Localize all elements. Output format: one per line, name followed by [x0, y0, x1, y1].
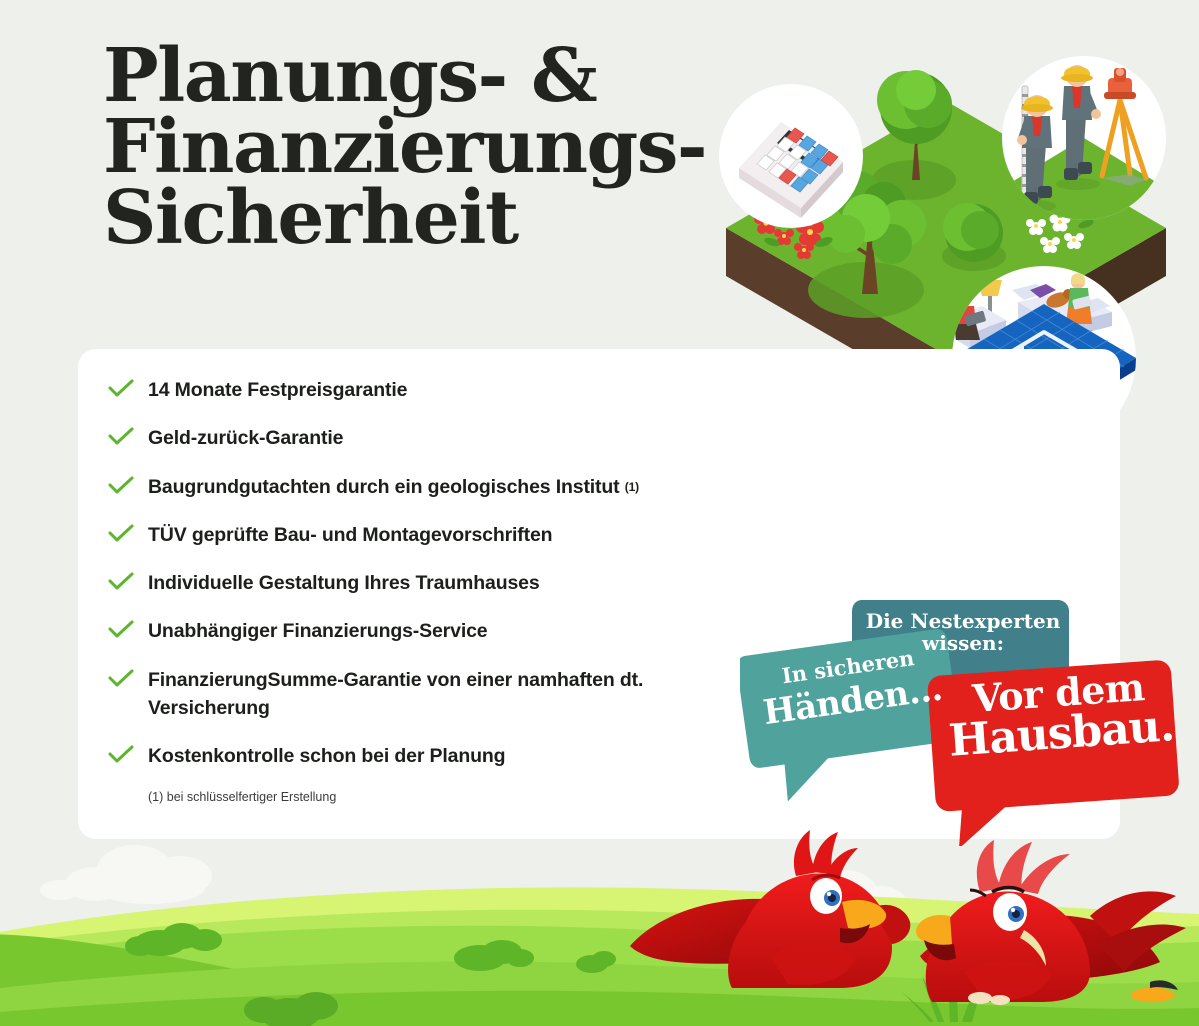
check-icon	[108, 521, 148, 544]
check-icon	[108, 376, 148, 399]
list-item: Baugrundgutachten durch ein geologisches…	[108, 473, 1088, 501]
check-icon	[108, 569, 148, 592]
check-icon	[108, 742, 148, 765]
list-item-text: Baugrundgutachten durch ein geologisches…	[148, 476, 620, 498]
list-item: 14 Monate Festpreisgarantie	[108, 376, 1088, 404]
list-item-label: TÜV geprüfte Bau- und Montagevorschrifte…	[148, 521, 552, 549]
list-item-label: FinanzierungSumme-Garantie von einer nam…	[148, 666, 708, 723]
bird-right	[916, 840, 1186, 1005]
list-item: FinanzierungSumme-Garantie von einer nam…	[108, 666, 748, 723]
list-item-label: Individuelle Gestaltung Ihres Traumhause…	[148, 569, 540, 597]
list-item-label: 14 Monate Festpreisgarantie	[148, 376, 407, 404]
check-icon	[108, 424, 148, 447]
bird-left-crest	[794, 830, 858, 878]
list-item: Geld-zurück-Garantie	[108, 424, 1088, 452]
two-red-birds	[620, 796, 1199, 1026]
bird-right-beak	[916, 915, 952, 945]
list-item-label: Unabhängiger Finanzierungs-Service	[148, 617, 487, 645]
list-item: Individuelle Gestaltung Ihres Traumhause…	[108, 569, 1088, 597]
footnote-marker: (1)	[625, 480, 639, 494]
poster-stage: Planungs- & Finanzierungs- Sicherheit	[0, 0, 1199, 1026]
surveyors-circle	[1002, 56, 1166, 220]
bird-right-crest	[977, 840, 1070, 894]
cloud-left	[40, 845, 212, 904]
check-icon	[108, 617, 148, 640]
bird-right-talon	[1132, 980, 1178, 1002]
check-icon	[108, 473, 148, 496]
list-item-label: Baugrundgutachten durch ein geologisches…	[148, 473, 639, 501]
page-title: Planungs- & Finanzierungs- Sicherheit	[103, 41, 743, 254]
list-item-label: Kostenkontrolle schon bei der Planung	[148, 742, 505, 770]
list-item: TÜV geprüfte Bau- und Montagevorschrifte…	[108, 521, 1088, 549]
calculator-circle	[719, 84, 863, 228]
bird-left	[630, 830, 910, 988]
list-item-label: Geld-zurück-Garantie	[148, 424, 343, 452]
check-icon	[108, 666, 148, 689]
